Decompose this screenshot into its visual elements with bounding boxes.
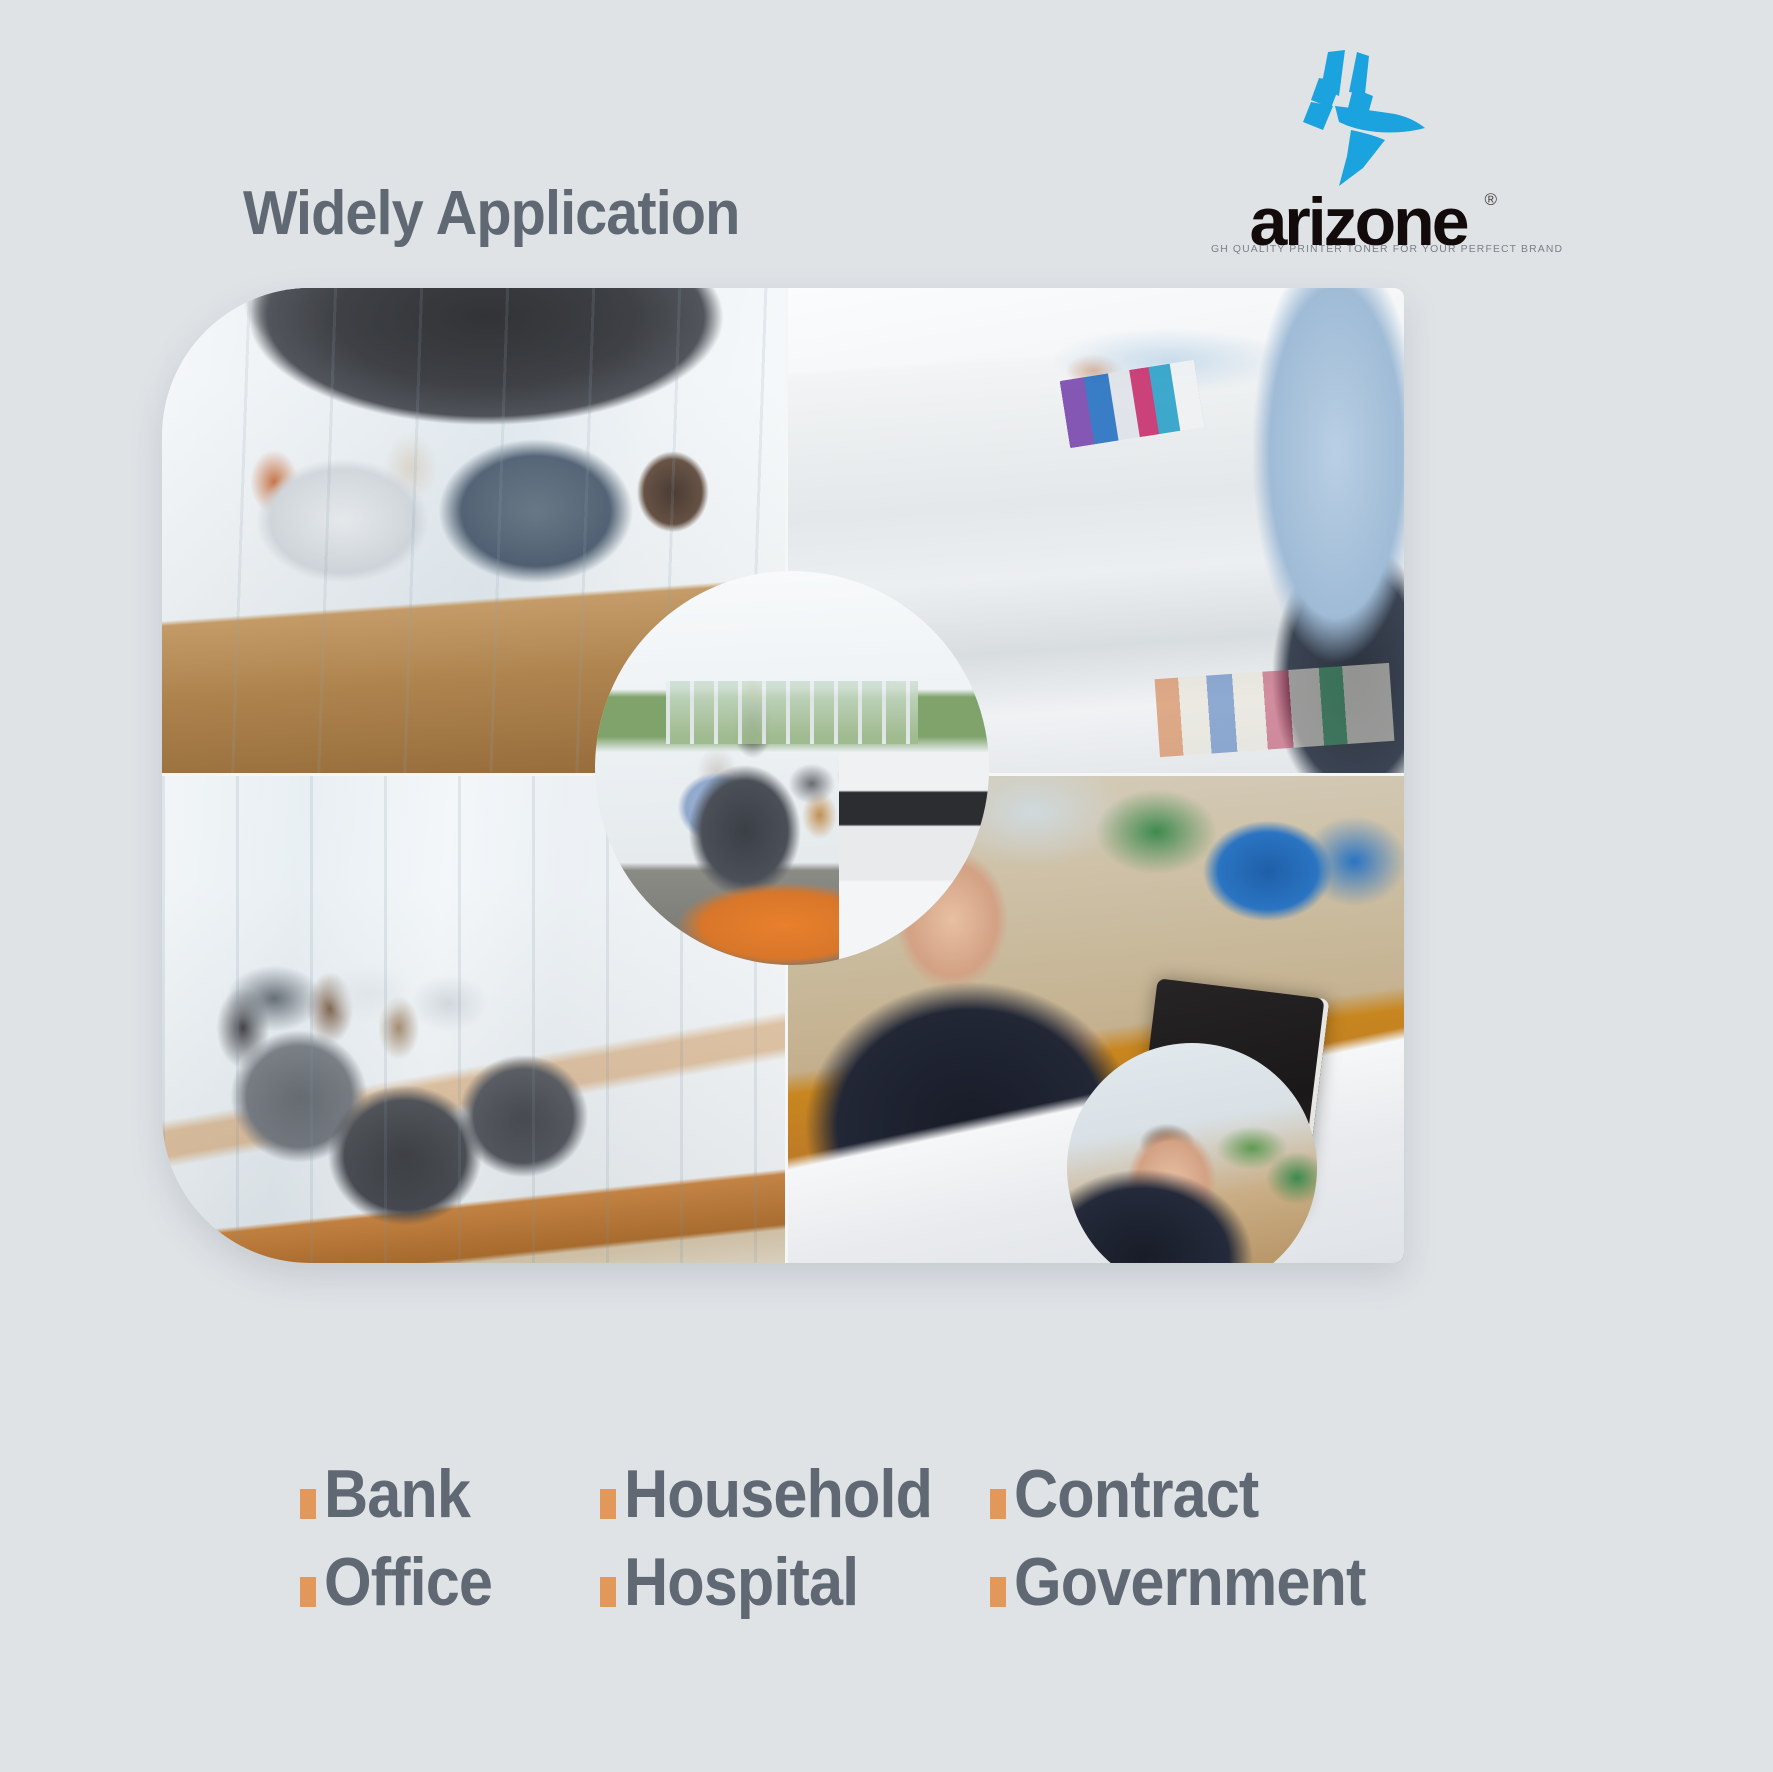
application-photo-collage: [162, 288, 1404, 1263]
application-label: Contract: [1014, 1465, 1258, 1525]
application-label: Household: [624, 1465, 932, 1525]
application-item-office: Office: [300, 1553, 600, 1613]
application-label: Hospital: [624, 1553, 858, 1613]
coworking-space-photo: [595, 571, 989, 965]
flying-bird-icon: [1273, 48, 1443, 188]
application-row-2: Office Hospital Government: [300, 1553, 1590, 1613]
application-row-1: Bank Household Contract: [300, 1465, 1590, 1525]
square-bullet-icon: [600, 1577, 616, 1607]
application-item-hospital: Hospital: [600, 1553, 990, 1613]
collage-right-circle-photo: [1067, 1043, 1317, 1263]
application-label: Bank: [324, 1465, 470, 1525]
application-item-contract: Contract: [990, 1465, 1420, 1525]
poster-canvas: Widely Application arizone ® GH QUALITY …: [0, 0, 1773, 1772]
application-item-government: Government: [990, 1553, 1420, 1613]
brand-tagline: GH QUALITY PRINTER TONER FOR YOUR PERFEC…: [1211, 244, 1505, 255]
square-bullet-icon: [300, 1489, 316, 1519]
application-label: Government: [1014, 1553, 1365, 1613]
application-label: Office: [324, 1553, 492, 1613]
application-item-household: Household: [600, 1465, 990, 1525]
brand-logo: arizone ® GH QUALITY PRINTER TONER FOR Y…: [1213, 48, 1503, 258]
square-bullet-icon: [600, 1489, 616, 1519]
square-bullet-icon: [300, 1577, 316, 1607]
page-title: Widely Application: [243, 178, 739, 249]
square-bullet-icon: [990, 1489, 1006, 1519]
application-item-bank: Bank: [300, 1465, 600, 1525]
registered-trademark-icon: ®: [1484, 190, 1497, 210]
schoolgirl-desk-photo: [1067, 1043, 1317, 1263]
square-bullet-icon: [990, 1577, 1006, 1607]
collage-center-circle-photo: [595, 571, 989, 965]
application-list: Bank Household Contract Office Hospital: [300, 1465, 1590, 1641]
